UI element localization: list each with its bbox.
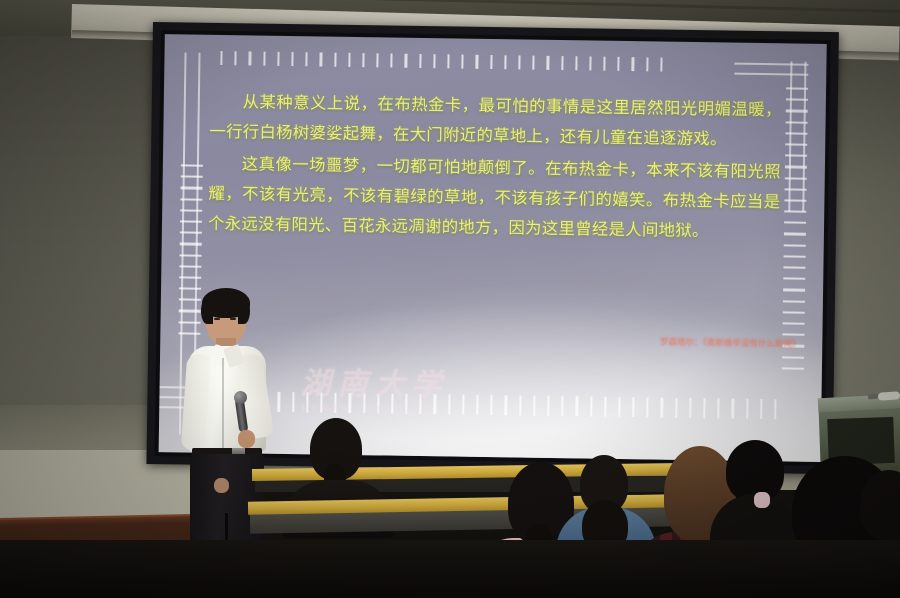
deco-tick [786, 99, 808, 102]
deco-tick [180, 232, 202, 235]
deco-tick [505, 395, 507, 415]
deco-tick [784, 233, 806, 236]
deco-tick [561, 396, 563, 416]
deco-tick [180, 220, 202, 223]
deco-tick [277, 52, 279, 66]
deco-tick [632, 57, 634, 71]
deco-tick [235, 51, 237, 65]
deco-tick [504, 55, 506, 69]
deco-tick [784, 199, 806, 202]
deco-tick [784, 222, 806, 225]
deco-tick [391, 54, 393, 68]
deco-tick [785, 188, 807, 191]
deco-tick [334, 53, 336, 67]
deco-tick [181, 176, 203, 179]
deco-tick [447, 54, 449, 68]
deco-tick [547, 56, 549, 70]
right-wall [832, 0, 900, 430]
deco-line-top-2 [734, 73, 808, 76]
deco-tick [782, 333, 804, 336]
deco-tick [376, 53, 378, 67]
deco-tick [784, 210, 806, 213]
deco-tick-col-right [782, 87, 808, 369]
deco-tick [476, 55, 478, 69]
deco-tick [462, 55, 464, 69]
lectern-object-2 [868, 394, 878, 400]
deco-tick [760, 399, 762, 419]
deco-tick [786, 110, 808, 113]
audience-hair-accessory [754, 492, 770, 508]
deco-tick [181, 187, 203, 190]
deco-tick [782, 356, 804, 359]
deco-tick [533, 396, 535, 416]
deco-tick [291, 52, 293, 66]
deco-tick [746, 399, 748, 419]
deco-tick [785, 132, 807, 135]
deco-tick [561, 56, 563, 70]
deco-tick [362, 53, 364, 67]
deco-tick [785, 177, 807, 180]
slide-body-text: 从某种意义上说，在布热金卡，最可怕的事情是这里居然阳光明媚温暖，一行行白杨树婆娑… [208, 87, 782, 249]
deco-tick [603, 57, 605, 71]
deco-tick [490, 395, 492, 415]
deco-tick [785, 143, 807, 146]
deco-tick [179, 276, 201, 279]
deco-tick [786, 87, 808, 90]
deco-tick [783, 300, 805, 303]
left-wall [0, 0, 160, 470]
watermark-chinese-name: 湖南大学 [259, 358, 490, 405]
deco-tick [784, 244, 806, 247]
slide-paragraph-1: 从某种意义上说，在布热金卡，最可怕的事情是这里居然阳光明媚温暖，一行行白杨树婆娑… [209, 87, 782, 155]
deco-tick [575, 56, 577, 70]
slide-attribution: 罗森塔尔：《奥斯维辛没有什么新闻》 [500, 334, 800, 350]
deco-tick [576, 396, 578, 416]
deco-tick [618, 57, 620, 71]
lectern-object [878, 391, 900, 401]
deco-tick [518, 55, 520, 69]
floor [0, 540, 900, 598]
presenter-hair-side-right [238, 298, 250, 324]
deco-tick [783, 266, 805, 269]
deco-tick [604, 397, 606, 417]
deco-tick [783, 311, 805, 314]
watermark-english-name: HUNAN UNIVERSITY [259, 404, 489, 417]
deco-tick [405, 54, 407, 68]
deco-tick [305, 52, 307, 66]
deco-tick [689, 398, 691, 418]
deco-tick-row-top [220, 51, 662, 72]
lecture-hall-photo: 从某种意义上说，在布热金卡，最可怕的事情是这里居然阳光明媚温暖，一行行白杨树婆娑… [0, 0, 900, 598]
deco-tick [263, 52, 265, 66]
deco-tick [618, 397, 620, 417]
deco-tick [220, 51, 222, 65]
deco-tick [660, 58, 662, 72]
deco-line-top-1 [734, 63, 808, 66]
deco-tick [249, 51, 251, 65]
deco-tick [774, 399, 776, 419]
deco-tick [180, 243, 202, 246]
deco-tick [532, 56, 534, 70]
deco-tick [547, 396, 549, 416]
deco-tick [433, 54, 435, 68]
presenter-hair-side-left [201, 298, 213, 324]
deco-tick [490, 55, 492, 69]
hunan-university-watermark: 湖南大学 HUNAN UNIVERSITY [259, 358, 490, 417]
deco-tick [180, 198, 202, 201]
audience-head-cap [726, 440, 784, 502]
audience-head [860, 470, 900, 540]
deco-tick [661, 398, 663, 418]
deco-tick [632, 397, 634, 417]
deco-tick [320, 52, 322, 66]
deco-tick [180, 209, 202, 212]
deco-tick [703, 398, 705, 418]
deco-tick [419, 54, 421, 68]
deco-tick [179, 265, 201, 268]
deco-tick [783, 278, 805, 281]
deco-tick [783, 322, 805, 325]
deco-tick [646, 397, 648, 417]
deco-tick [784, 255, 806, 258]
deco-tick [590, 397, 592, 417]
deco-tick [646, 57, 648, 71]
deco-tick [717, 398, 719, 418]
deco-tick [180, 254, 202, 257]
deco-tick [519, 395, 521, 415]
deco-tick [786, 121, 808, 124]
presenter-hand-right [238, 430, 255, 448]
deco-tick [732, 399, 734, 419]
deco-tick [348, 53, 350, 67]
presenter-hand-left [214, 478, 229, 493]
slide-paragraph-2: 这真像一场噩梦，一切都可怕地颠倒了。在布热金卡，本来不该有阳光照耀，不该有光亮，… [208, 149, 781, 247]
deco-tick [782, 367, 804, 370]
deco-tick [589, 56, 591, 70]
presenter-shirt-placket [222, 358, 224, 450]
deco-tick [785, 155, 807, 158]
deco-tick [675, 398, 677, 418]
deco-tick [783, 289, 805, 292]
deco-tick [181, 164, 203, 167]
deco-tick [785, 166, 807, 169]
